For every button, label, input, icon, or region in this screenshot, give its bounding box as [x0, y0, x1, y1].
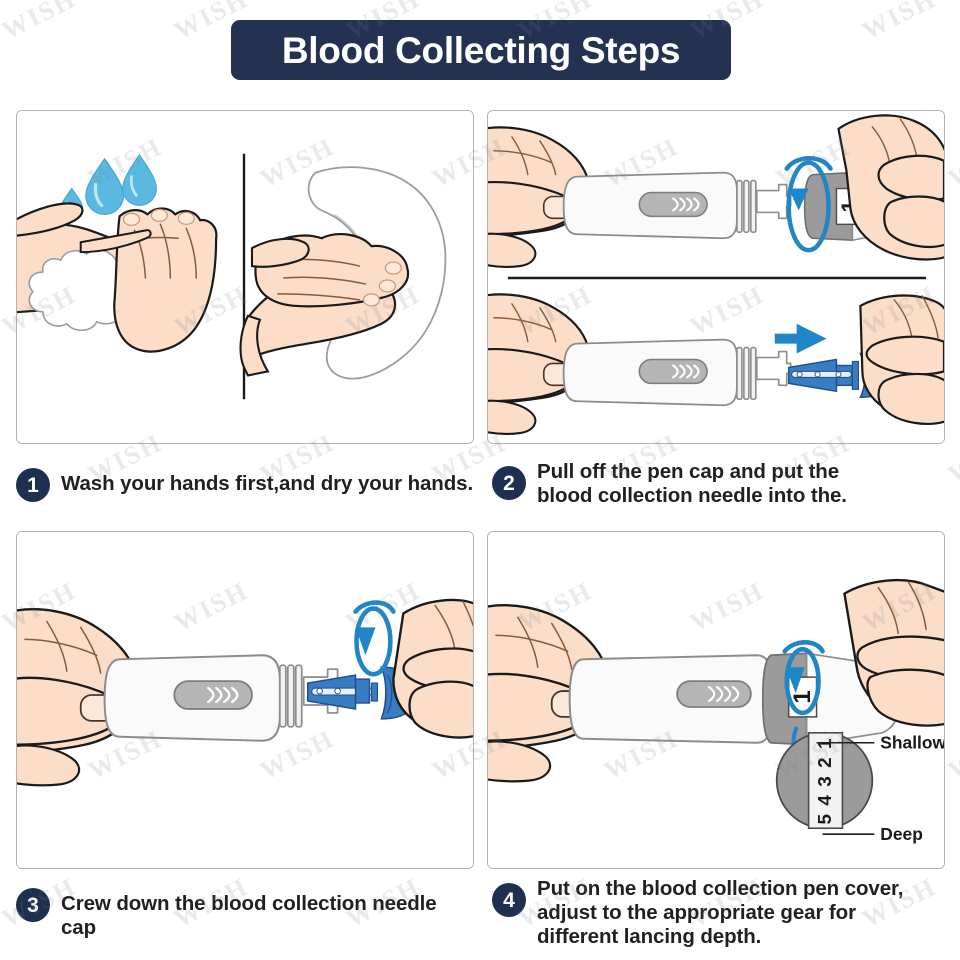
watermark-text: WISH — [943, 132, 960, 195]
step-4-text: Put on the blood collection pen cover, a… — [537, 876, 903, 948]
depth-adjust-illustration: 1 1 — [488, 532, 944, 868]
caption-line: Crew down the blood collection needle ca… — [61, 892, 476, 940]
step-3-text: Crew down the blood collection needle ca… — [61, 888, 476, 940]
fingernail — [178, 212, 194, 224]
pen-slider-button — [677, 681, 751, 707]
pen-slider-button-2 — [639, 360, 707, 384]
fingernail — [385, 262, 401, 274]
caption-line: Wash your hands first,and dry your hands… — [61, 472, 473, 496]
page-title-banner: Blood Collecting Steps — [231, 20, 731, 80]
watermark-text: WISH — [0, 0, 81, 46]
pen-threaded-neck-2 — [737, 348, 756, 400]
step-1-text: Wash your hands first,and dry your hands… — [61, 468, 473, 496]
wash-hands-illustration — [17, 111, 473, 443]
unscrew-needle-cap-illustration — [17, 532, 473, 868]
pen-slider-button — [174, 681, 252, 709]
pen-threaded-neck — [737, 181, 756, 233]
step-2-caption: 2 Pull off the pen cap and put the blood… — [492, 459, 954, 508]
step-4-illustration-panel: 1 1 — [487, 531, 945, 869]
step-2-badge: 2 — [492, 466, 526, 500]
step-3-badge: 3 — [16, 888, 50, 922]
step-1-badge: 1 — [16, 468, 50, 502]
watermark-text: WISH — [943, 724, 960, 787]
step-4-caption: 4 Put on the blood collection pen cover,… — [492, 876, 954, 948]
step-2-text: Pull off the pen cap and put the blood c… — [537, 459, 847, 508]
dial-value-2: 2 — [815, 757, 836, 768]
step-3-illustration-panel — [16, 531, 474, 869]
caption-line: different lancing depth. — [537, 925, 903, 949]
pen-cap-and-needle-illustration: 1 — [488, 111, 944, 443]
shallow-label: Shallow — [880, 733, 944, 753]
step-1-caption: 1 Wash your hands first,and dry your han… — [16, 468, 476, 502]
watermark-text: WISH — [857, 0, 941, 46]
dial-value-4: 4 — [815, 795, 836, 806]
dial-value-5: 5 — [815, 814, 836, 825]
pen-slider-button — [639, 193, 707, 217]
infographic-page: Blood Collecting Steps — [0, 0, 960, 960]
dial-value-1: 1 — [815, 738, 836, 749]
fingernail — [379, 280, 395, 292]
collar-number-label: 1 — [789, 690, 816, 703]
caption-line: adjust to the appropriate gear for — [537, 901, 903, 925]
step-4-badge: 4 — [492, 883, 526, 917]
dial-value-3: 3 — [815, 776, 836, 787]
page-title: Blood Collecting Steps — [282, 32, 680, 69]
step-2-illustration-panel: 1 — [487, 110, 945, 444]
deep-label: Deep — [880, 824, 923, 844]
fingernail — [124, 213, 140, 225]
step-1-illustration-panel — [16, 110, 474, 444]
fingernail — [363, 294, 379, 306]
fingernail — [151, 209, 167, 221]
pen-threaded-neck — [280, 665, 302, 727]
caption-line: Pull off the pen cap and put the — [537, 460, 847, 484]
caption-line: Put on the blood collection pen cover, — [537, 877, 903, 901]
caption-line: blood collection needle into the. — [537, 484, 847, 508]
step-3-caption: 3 Crew down the blood collection needle … — [16, 888, 476, 940]
